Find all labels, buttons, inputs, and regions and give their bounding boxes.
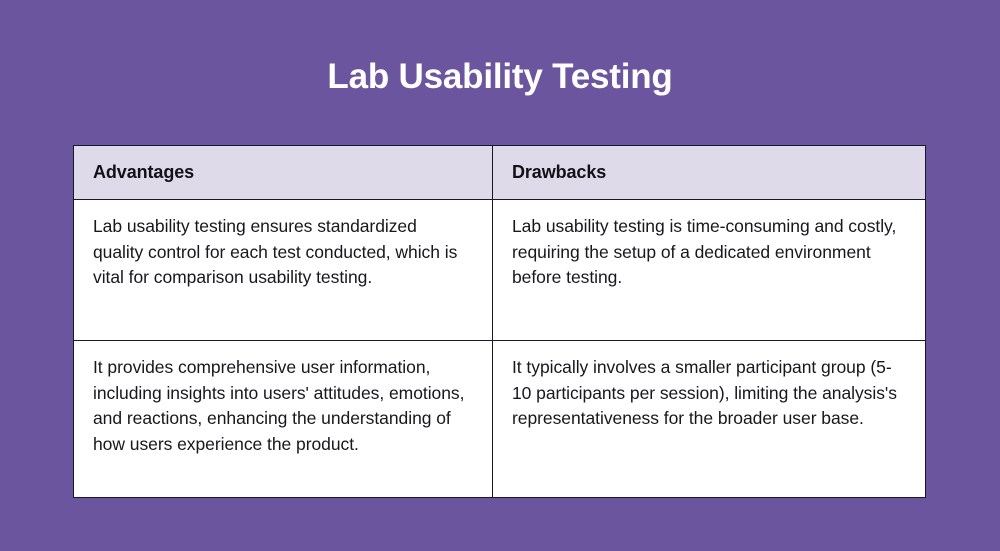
advantages-drawbacks-table: Advantages Drawbacks Lab usability testi… [73, 145, 926, 498]
column-header-drawbacks: Drawbacks [493, 146, 926, 200]
table-header: Advantages Drawbacks [74, 146, 926, 200]
cell-drawbacks-2: It typically involves a smaller particip… [493, 341, 926, 498]
cell-advantages-2: It provides comprehensive user informati… [74, 341, 493, 498]
column-header-advantages: Advantages [74, 146, 493, 200]
cell-drawbacks-1: Lab usability testing is time-consuming … [493, 200, 926, 341]
table-header-row: Advantages Drawbacks [74, 146, 926, 200]
table-row: Lab usability testing ensures standardiz… [74, 200, 926, 341]
table-row: It provides comprehensive user informati… [74, 341, 926, 498]
page-title: Lab Usability Testing [0, 55, 1000, 99]
table-body: Lab usability testing ensures standardiz… [74, 200, 926, 498]
slide-canvas: Lab Usability Testing Advantages Drawbac… [0, 0, 1000, 551]
cell-advantages-1: Lab usability testing ensures standardiz… [74, 200, 493, 341]
